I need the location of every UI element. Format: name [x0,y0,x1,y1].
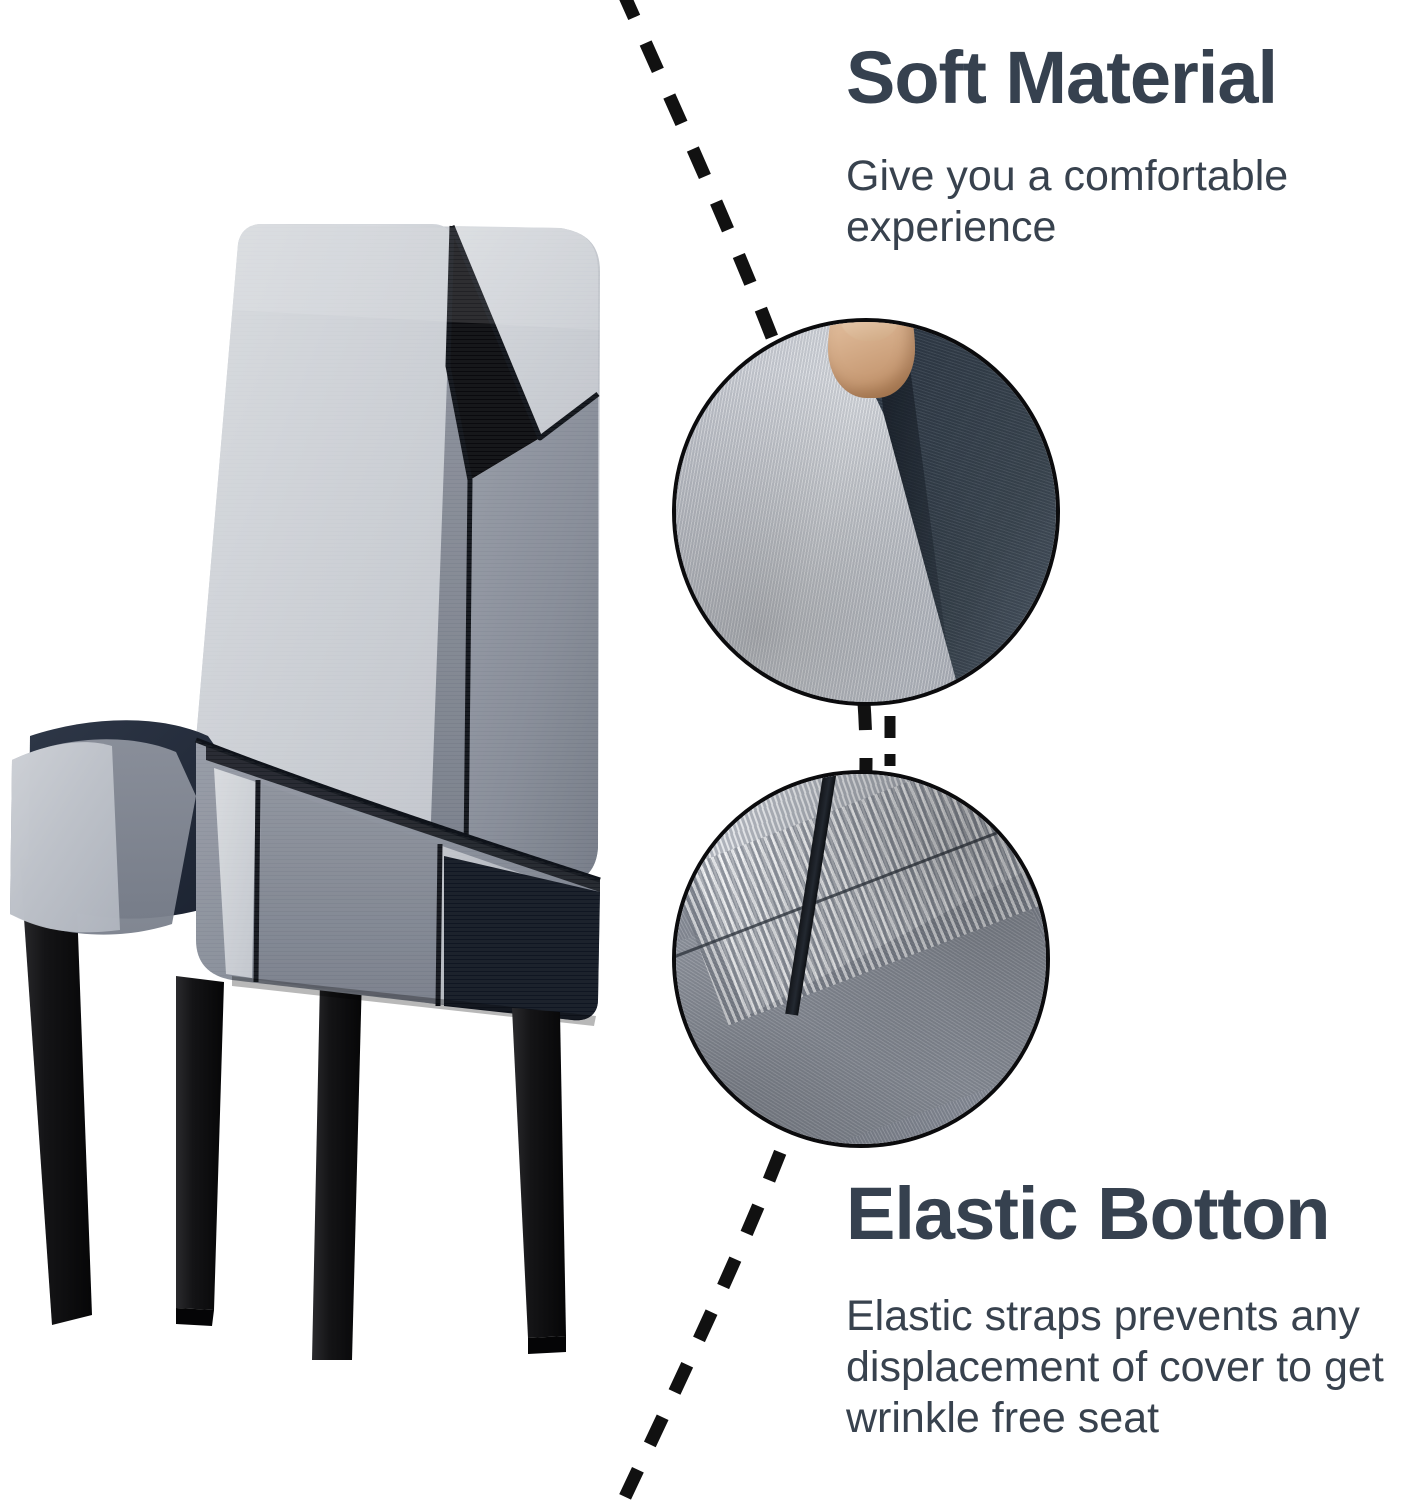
feature-block-soft-material: Soft Material Give you a comfortable exp… [846,40,1406,253]
feature-block-elastic-bottom: Elastic Botton Elastic straps prevents a… [846,1176,1406,1444]
fabric-pinch-closeup [676,322,1056,702]
photo-vignette [676,774,1046,1144]
chair-leg-front-left [176,976,224,1326]
feature-description-elastic-bottom: Elastic straps prevents any displacement… [846,1291,1406,1443]
chair-leg-rear-right [312,975,362,1360]
product-chair-image [0,180,700,1360]
feature-description-soft-material: Give you a comfortable experience [846,151,1406,252]
feature-headline-soft-material: Soft Material [846,40,1406,115]
feature-headline-elastic-bottom: Elastic Botton [846,1176,1406,1251]
detail-circle-elastic-bottom [672,770,1050,1148]
elastic-hem-closeup [676,774,1046,1144]
chair-leg-front-right [512,1008,566,1354]
photo-vignette [676,322,1056,702]
detail-circle-soft-material [672,318,1060,706]
product-feature-infographic: Soft Material Give you a comfortable exp… [0,0,1418,1500]
